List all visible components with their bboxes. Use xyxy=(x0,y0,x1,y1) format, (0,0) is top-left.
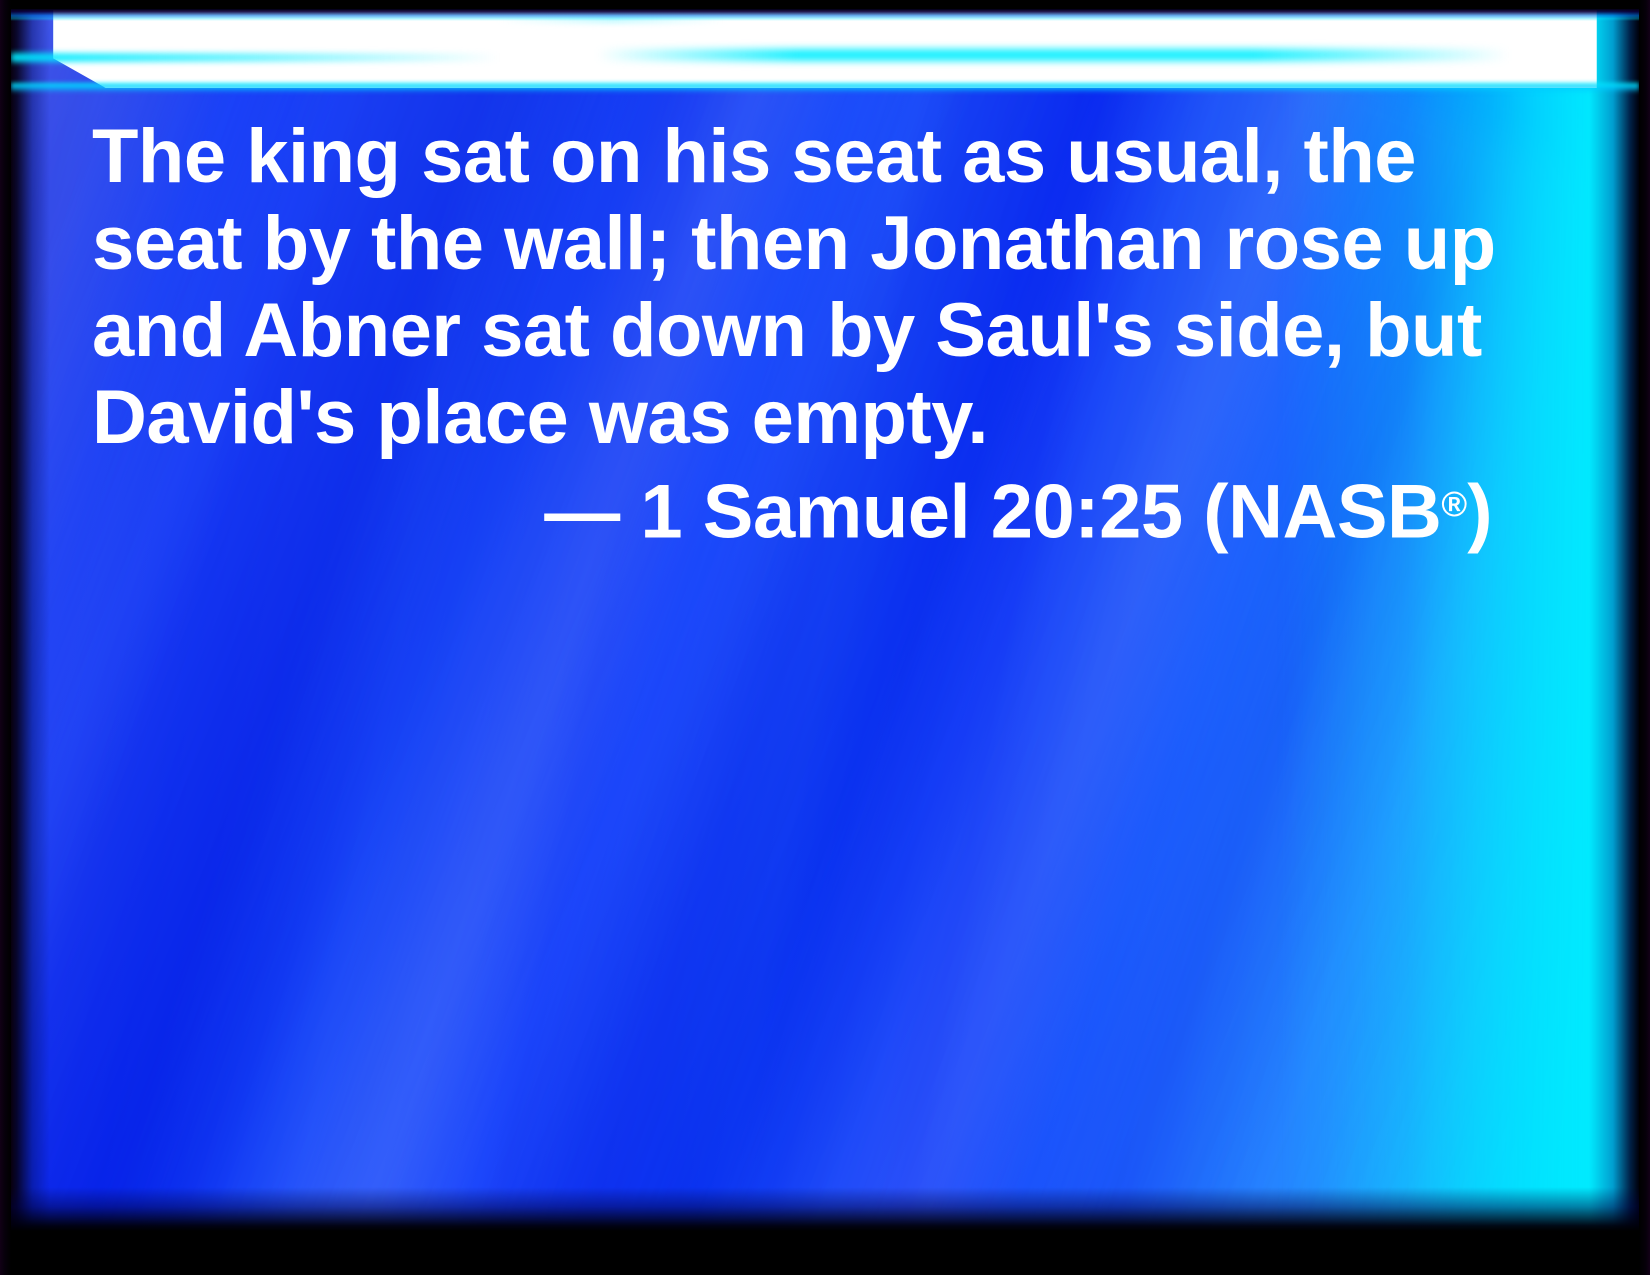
top-highlight-upper-edge xyxy=(11,9,1639,21)
top-highlight-bar xyxy=(11,9,1639,93)
attribution-reference: 1 Samuel 20:25 xyxy=(640,470,1182,555)
verse-text: The king sat on his seat as usual, the s… xyxy=(92,113,1522,461)
verse-attribution: — 1 Samuel 20:25 (NASB®) xyxy=(92,461,1492,556)
attribution-translation-close: ) xyxy=(1467,470,1492,555)
verse-slide: The king sat on his seat as usual, the s… xyxy=(0,0,1650,1275)
background-right-vignette xyxy=(1589,9,1639,1231)
background-left-vignette xyxy=(11,9,50,1231)
top-highlight-lower-edge xyxy=(11,83,1639,93)
attribution-dash: — xyxy=(544,470,620,555)
top-highlight-cyan-wisp-right xyxy=(597,49,1509,61)
attribution-translation-open: (NASB xyxy=(1203,470,1441,555)
top-highlight-cyan-wisp-left xyxy=(11,53,499,62)
registered-trademark-icon: ® xyxy=(1441,485,1467,524)
background-bottom-vignette xyxy=(11,1187,1639,1231)
